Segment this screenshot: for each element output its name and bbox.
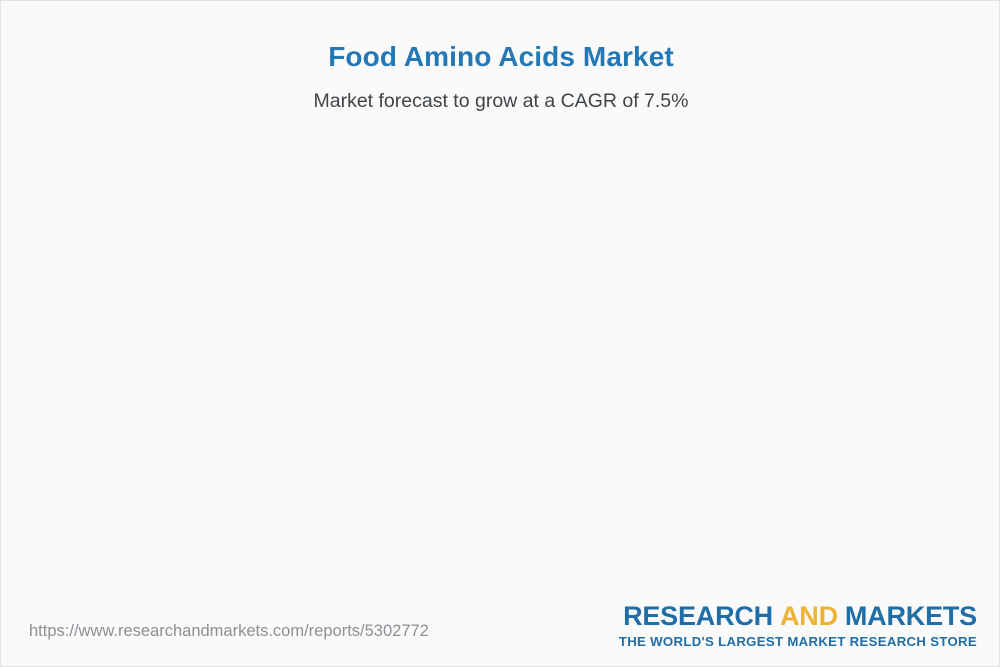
source-url-link[interactable]: https://www.researchandmarkets.com/repor… xyxy=(29,622,429,641)
brand-logo[interactable]: RESEARCHANDMARKETS THE WORLD'S LARGEST M… xyxy=(619,603,977,649)
brand-logo-markets: MARKETS xyxy=(845,601,977,631)
chart-plot-area: USD 8.6 Billion 2024 USD 13.3 Billion xyxy=(1,1,1000,601)
brand-logo-and: AND xyxy=(780,601,838,631)
infographic-card: Food Amino Acids Market Market forecast … xyxy=(0,0,1000,667)
brand-logo-tagline: THE WORLD'S LARGEST MARKET RESEARCH STOR… xyxy=(619,634,977,649)
brand-logo-research: RESEARCH xyxy=(623,601,773,631)
brand-logo-wordmark: RESEARCHANDMARKETS xyxy=(619,603,977,630)
